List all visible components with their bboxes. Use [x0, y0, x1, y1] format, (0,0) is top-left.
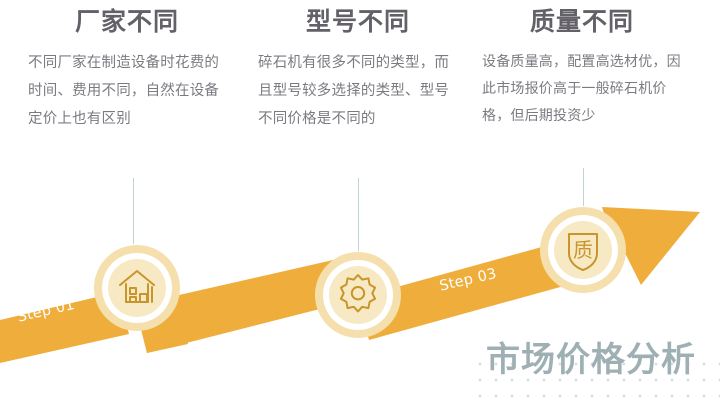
step-node-1[interactable] [94, 245, 180, 331]
gear-icon [329, 266, 387, 324]
column-body-2: 碎石机有很多不同的类型，而且型号较多选择的类型、型号不同价格是不同的 [258, 49, 458, 134]
column-title-2: 型号不同 [258, 8, 458, 36]
step-node-2[interactable] [315, 252, 401, 338]
factory-house-icon [108, 259, 166, 317]
text-column-2: 型号不同 碎石机有很多不同的类型，而且型号较多选择的类型、型号不同价格是不同的 [258, 8, 458, 133]
column-title-1: 厂家不同 [26, 8, 228, 36]
shield-glyph: 质 [573, 238, 593, 262]
column-body-3: 设备质量高，配置高选材优，因此市场报价高于一般碎石机价格，但后期投资少 [482, 49, 682, 131]
column-title-3: 质量不同 [482, 8, 682, 36]
text-column-1: 厂家不同 不同厂家在制造设备时花费的时间、费用不同，自然在设备定价上也有区别 [28, 8, 228, 133]
column-body-1: 不同厂家在制造设备时花费的时间、费用不同，自然在设备定价上也有区别 [28, 49, 228, 134]
step-node-3[interactable]: 质 [540, 207, 626, 293]
infographic-canvas: 市场价格分析 Step 01 Step 02 Step 03 [0, 0, 720, 400]
shield-quality-icon: 质 [554, 221, 612, 279]
text-column-3: 质量不同 设备质量高，配置高选材优，因此市场报价高于一般碎石机价格，但后期投资少 [482, 8, 682, 130]
